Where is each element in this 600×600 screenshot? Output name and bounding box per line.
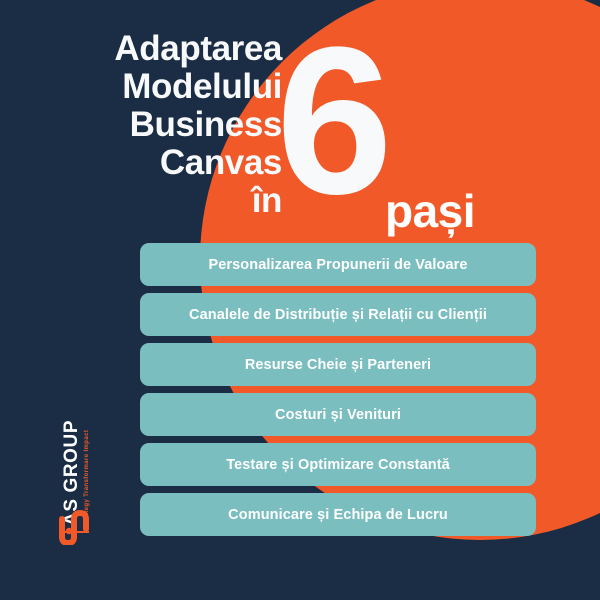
as-group-mark-icon <box>56 507 92 545</box>
list-item[interactable]: Costuri și Venituri <box>140 393 536 436</box>
headline-line-5: în <box>0 182 282 220</box>
step-label: Resurse Cheie și Parteneri <box>245 357 431 373</box>
headline-big-number: 6 <box>276 16 385 226</box>
list-item[interactable]: Resurse Cheie și Parteneri <box>140 343 536 386</box>
step-label: Canalele de Distribuție și Relații cu Cl… <box>189 307 487 323</box>
headline-line-3: Business <box>0 106 282 144</box>
list-item[interactable]: Comunicare și Echipa de Lucru <box>140 493 536 536</box>
headline-suffix: pași <box>385 188 475 234</box>
step-label: Comunicare și Echipa de Lucru <box>228 507 448 523</box>
step-label: Personalizarea Propunerii de Valoare <box>208 257 467 273</box>
list-item[interactable]: Canalele de Distribuție și Relații cu Cl… <box>140 293 536 336</box>
headline-line-4: Canvas <box>0 144 282 182</box>
page-title: Adaptarea Modelului Business Canvas în <box>0 30 290 220</box>
step-label: Costuri și Venituri <box>275 407 401 423</box>
list-item[interactable]: Personalizarea Propunerii de Valoare <box>140 243 536 286</box>
steps-list: Personalizarea Propunerii de Valoare Can… <box>140 243 536 536</box>
poster-canvas: Adaptarea Modelului Business Canvas în 6… <box>0 0 600 600</box>
headline-line-2: Modelului <box>0 68 282 106</box>
headline-line-1: Adaptarea <box>0 30 282 68</box>
step-label: Testare și Optimizare Constantă <box>226 457 450 473</box>
logo: AS GROUP Strategy Transformare Impact <box>46 400 106 550</box>
list-item[interactable]: Testare și Optimizare Constantă <box>140 443 536 486</box>
